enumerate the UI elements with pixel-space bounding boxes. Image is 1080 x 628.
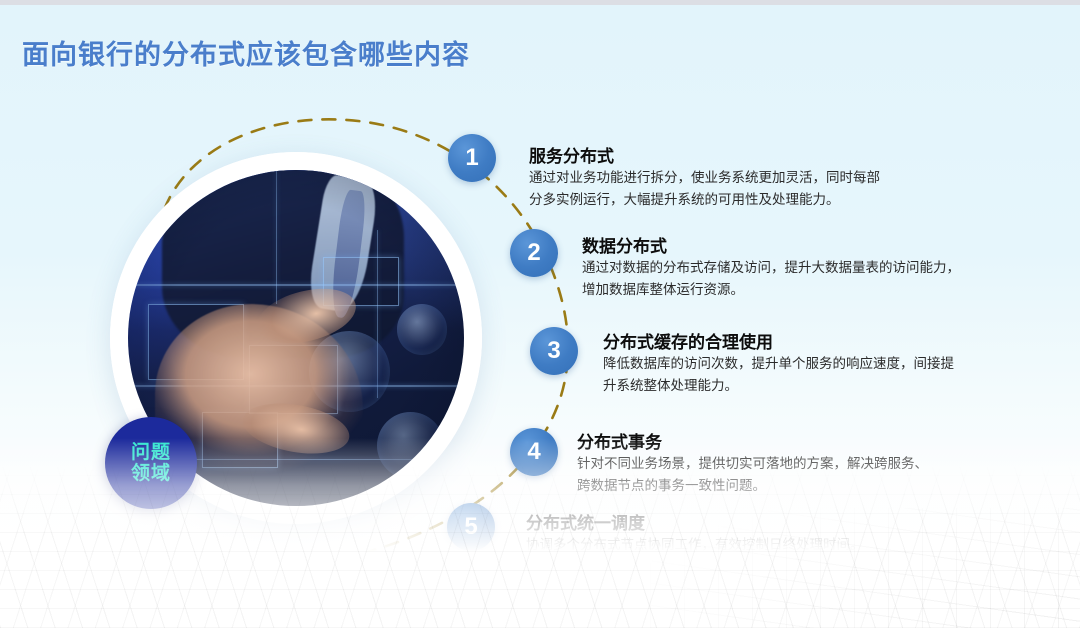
- top-strip: [0, 0, 1080, 5]
- item-desc-3: 降低数据库的访问次数，提升单个服务的响应速度，间接提 升系统整体处理能力。: [603, 353, 954, 397]
- page-title: 面向银行的分布式应该包含哪些内容: [22, 33, 470, 72]
- item-desc-2: 通过对数据的分布式存储及访问，提升大数据量表的访问能力， 增加数据库整体运行资源…: [582, 257, 960, 301]
- item-title-2: 数据分布式: [582, 232, 667, 257]
- item-title-1: 服务分布式: [529, 142, 614, 167]
- item-number-2[interactable]: 2: [510, 229, 558, 277]
- floor-backdrop: [0, 438, 1080, 628]
- item-number-1[interactable]: 1: [448, 134, 496, 182]
- floor-right-blocks: [650, 508, 1080, 628]
- item-number-3[interactable]: 3: [530, 327, 578, 375]
- item-desc-1: 通过对业务功能进行拆分，使业务系统更加灵活，同时每部 分多实例运行，大幅提升系统…: [529, 167, 880, 211]
- slide-root: 面向银行的分布式应该包含哪些内容: [0, 0, 1080, 628]
- item-title-3: 分布式缓存的合理使用: [603, 328, 773, 353]
